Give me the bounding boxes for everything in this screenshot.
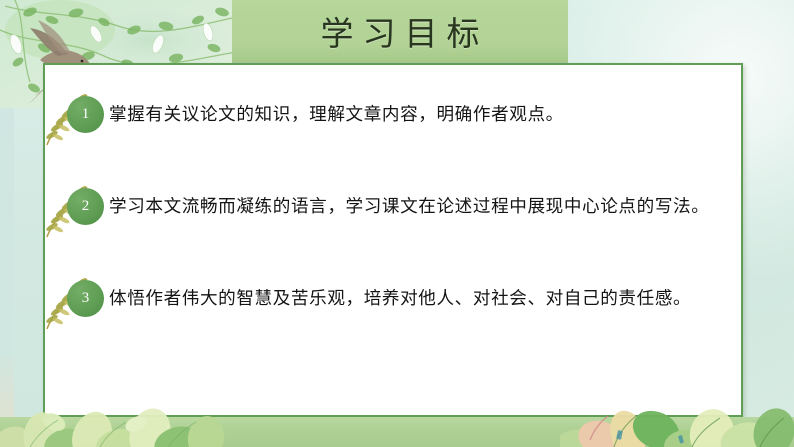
- leaves-decoration-bottom-right: [560, 400, 794, 447]
- bullet-number-1: 1: [67, 96, 104, 133]
- objective-text-3: 体悟作者伟大的智慧及苦乐观，培养对他人、对社会、对自己的责任感。: [109, 279, 723, 311]
- list-item: 3 体悟作者伟大的智慧及苦乐观，培养对他人、对社会、对自己的责任感。: [45, 279, 723, 371]
- bullet-badge-group: 2: [53, 183, 109, 237]
- objective-text-1: 掌握有关议论文的知识，理解文章内容，明确作者观点。: [109, 95, 723, 127]
- bullet-number-3: 3: [67, 280, 104, 317]
- slide-learning-objectives: 学习目标: [0, 0, 794, 447]
- page-title: 学习目标: [232, 0, 568, 62]
- objective-text-2: 学习本文流畅而凝练的语言，学习课文在论述过程中展现中心论点的写法。: [109, 187, 723, 219]
- objectives-card: 1 掌握有关议论文的知识，理解文章内容，明确作者观点。: [43, 63, 743, 417]
- list-item: 1 掌握有关议论文的知识，理解文章内容，明确作者观点。: [45, 95, 723, 187]
- list-item: 2 学习本文流畅而凝练的语言，学习课文在论述过程中展现中心论点的写法。: [45, 187, 723, 279]
- bullet-badge-group: 1: [53, 91, 109, 145]
- leaves-decoration-bottom-left: [0, 400, 232, 447]
- bullet-number-2: 2: [67, 188, 104, 225]
- bullet-badge-group: 3: [53, 275, 109, 329]
- objectives-list: 1 掌握有关议论文的知识，理解文章内容，明确作者观点。: [45, 95, 723, 371]
